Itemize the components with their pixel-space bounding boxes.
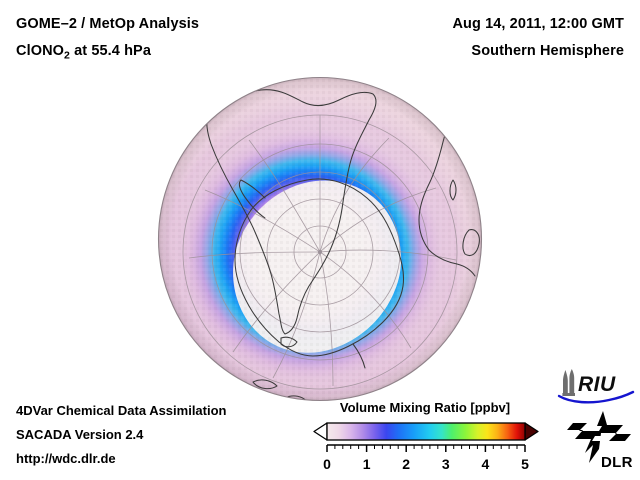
colorbar-tick-0: 0 [323,456,331,472]
polar-globe-map [157,76,483,402]
colorbar-tick-2: 2 [402,456,410,472]
dlr-wordmark: DLR [601,454,633,471]
colorbar: 0 1 2 3 4 5 [310,421,542,475]
colorbar-major-ticks [327,445,525,452]
limb-shading [159,78,482,401]
globe-svg [157,76,483,402]
coast-africa-west [463,96,481,142]
analysis-title: GOME–2 / MetOp Analysis [16,16,199,32]
colorbar-gradient [327,423,525,440]
species-level-title: ClONO2 at 55.4 hPa [16,43,151,61]
pressure-level: at 55.4 hPa [70,43,151,59]
hemisphere-label: Southern Hemisphere [471,43,624,59]
data-center-url[interactable]: http://wdc.dlr.de [16,451,116,466]
assimilation-method-label: 4DVar Chemical Data Assimilation [16,403,227,418]
colorbar-right-cap [525,423,538,440]
colorbar-tick-4: 4 [482,456,490,472]
colorbar-tick-labels: 0 1 2 3 4 5 [323,456,529,472]
colorbar-title: Volume Mixing Ratio [ppbv] [310,400,540,415]
colorbar-tick-5: 5 [521,456,529,472]
dlr-logo-svg: DLR [565,409,635,471]
visualization-canvas: GOME–2 / MetOp Analysis ClONO2 at 55.4 h… [0,0,640,480]
colorbar-tick-1: 1 [363,456,371,472]
dlr-logo: DLR [565,409,635,471]
riu-wordmark: RIU [578,373,616,396]
species-name: ClONO [16,43,64,59]
version-label: SACADA Version 2.4 [16,427,143,442]
timestamp-label: Aug 14, 2011, 12:00 GMT [452,16,624,32]
riu-logo-svg: RIU [557,369,635,405]
colorbar-left-cap [314,423,327,440]
colorbar-svg: 0 1 2 3 4 5 [310,421,542,475]
colorbar-tick-3: 3 [442,456,450,472]
riu-logo: RIU [557,369,635,405]
riu-towers-icon [562,369,575,396]
